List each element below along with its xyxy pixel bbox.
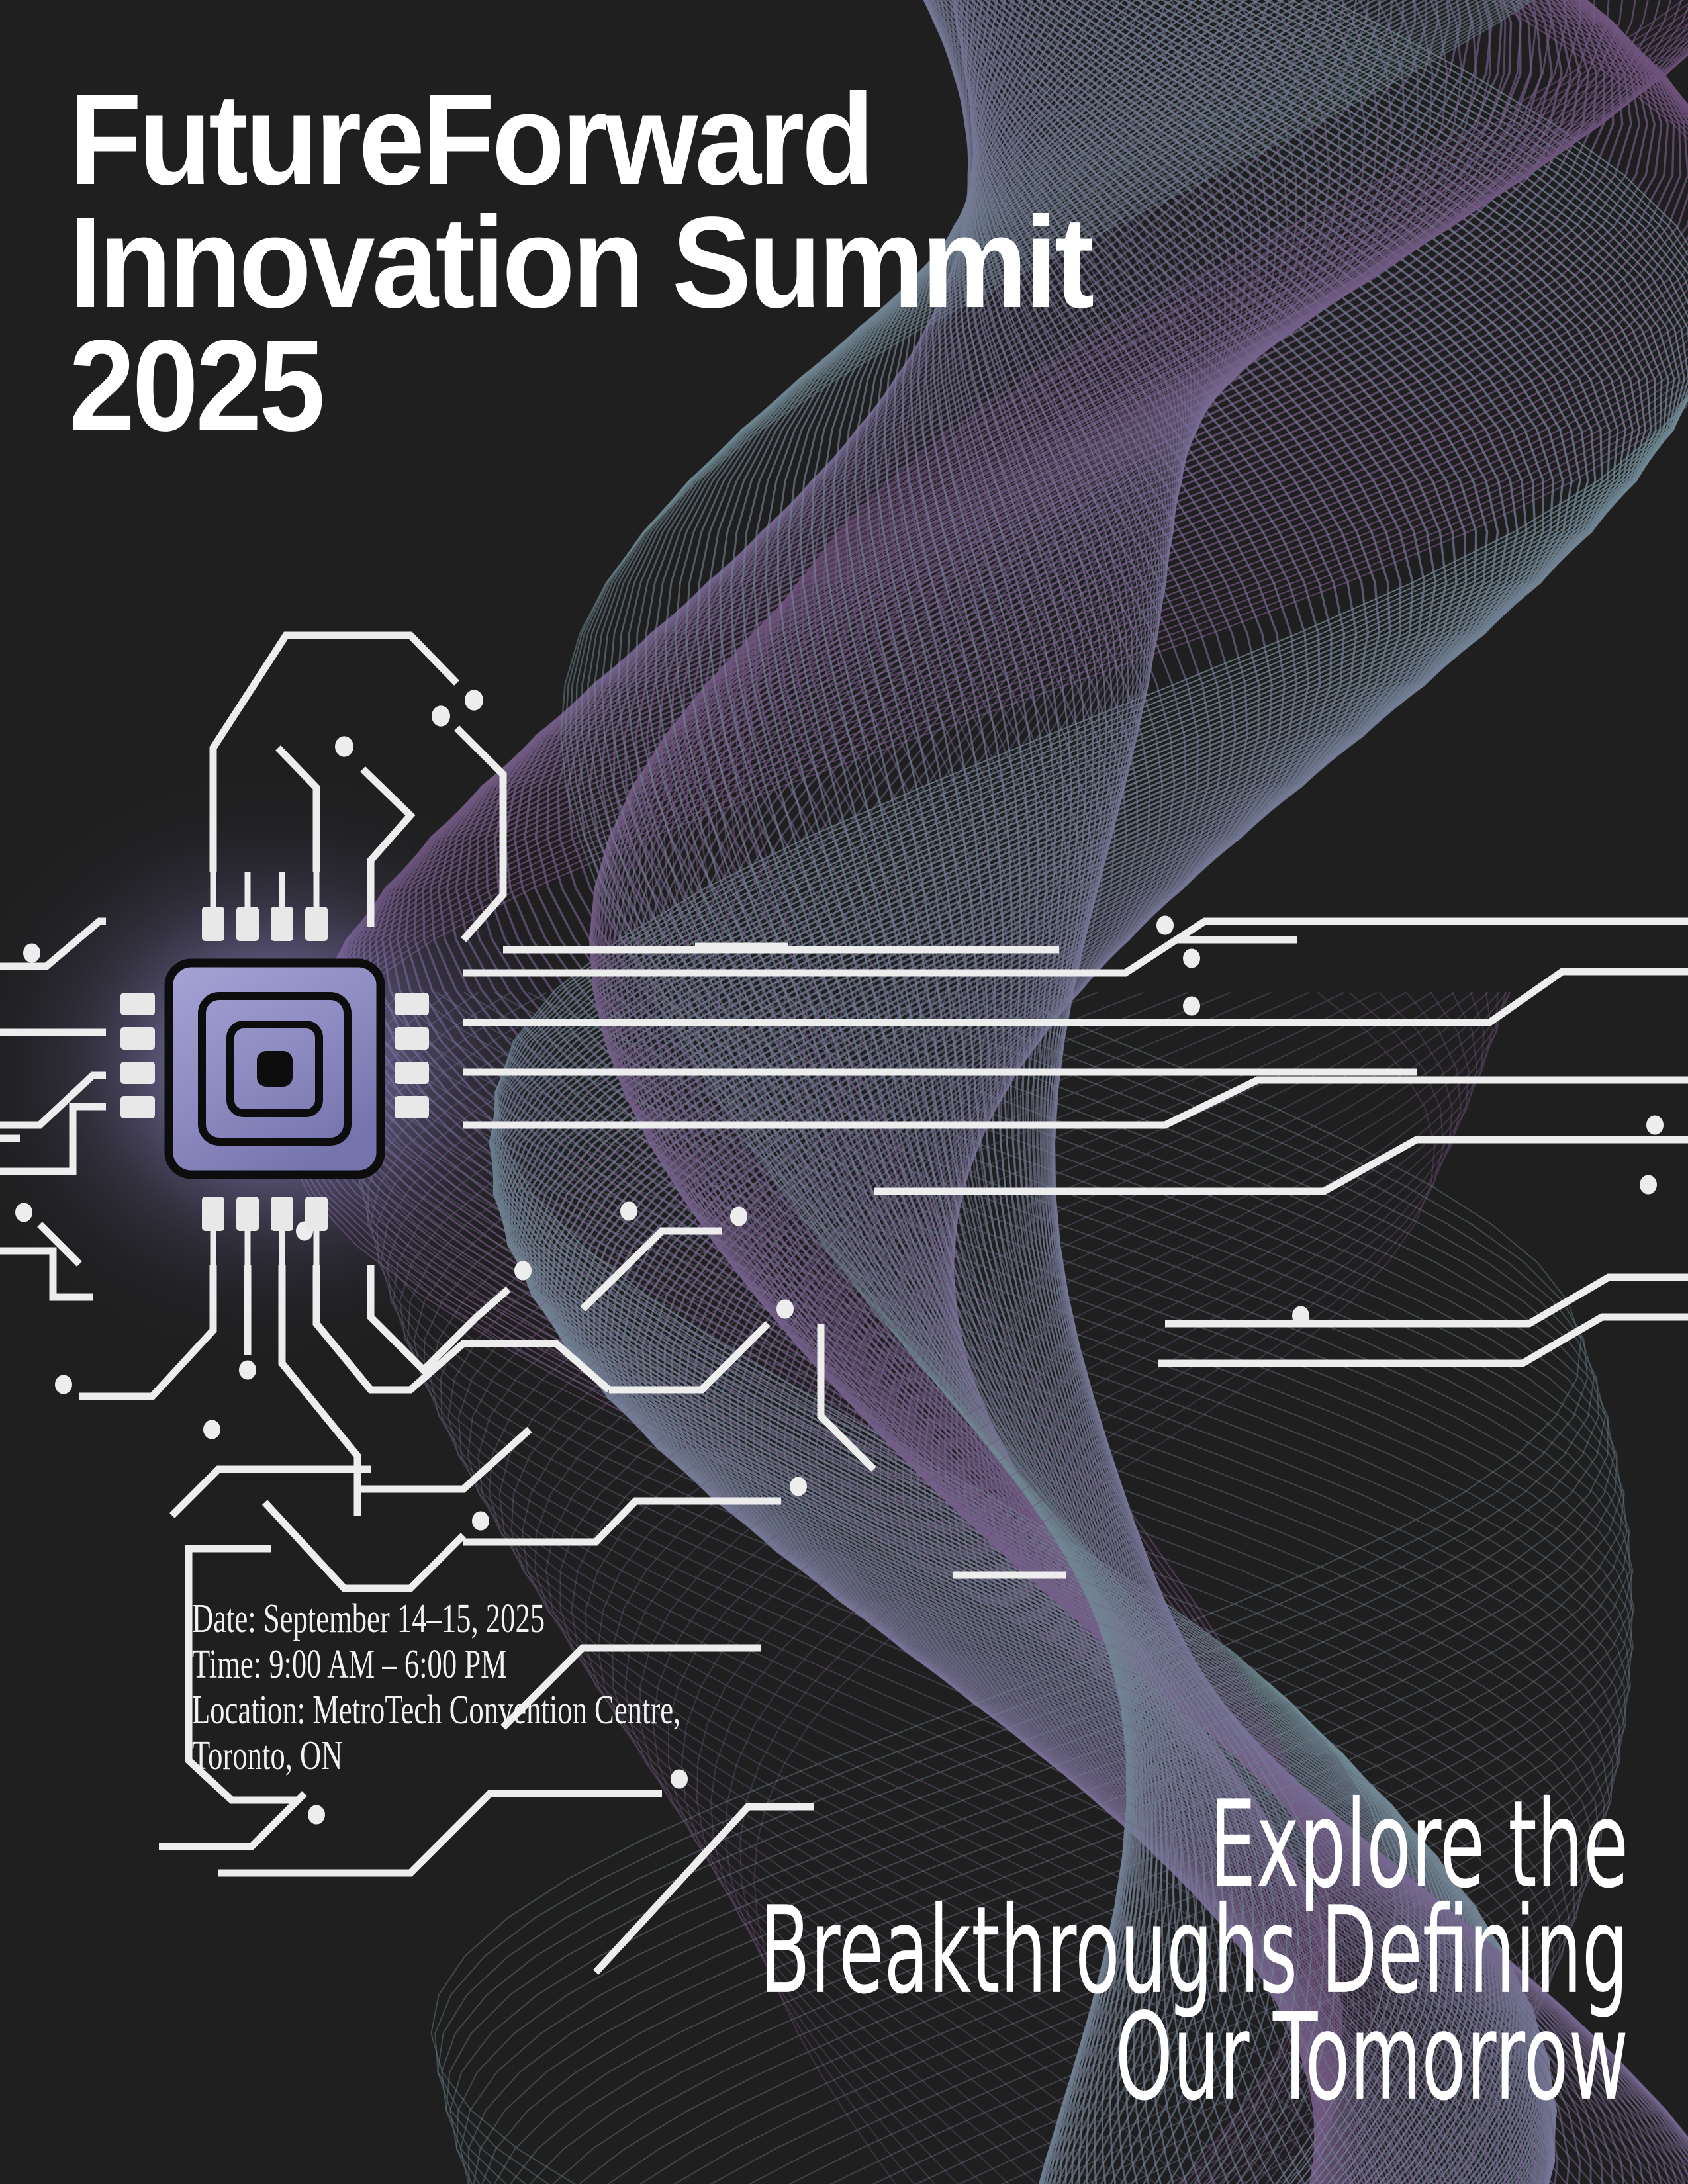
chip-pin <box>120 1062 155 1084</box>
trace-node <box>1292 1306 1309 1325</box>
trace-node <box>308 1805 325 1824</box>
trace-node <box>776 1299 794 1318</box>
chip-pin <box>202 907 224 941</box>
trace-node <box>1183 996 1200 1015</box>
trace-node <box>730 1206 747 1226</box>
title-line-2: Innovation Summit <box>69 201 1530 324</box>
chip-pin <box>120 1027 155 1050</box>
trace-node <box>1646 1115 1664 1134</box>
chip-pin <box>120 1096 155 1118</box>
detail-city: Toronto, ON <box>192 1735 716 1776</box>
chip-pin <box>271 1197 293 1231</box>
title-line-1: FutureForward <box>69 78 1530 201</box>
chip-pin <box>202 1197 224 1231</box>
trace-node <box>203 1420 220 1439</box>
trace-node <box>472 1511 489 1530</box>
chip-pin <box>305 907 328 941</box>
chip-pin <box>395 993 429 1015</box>
trace-node <box>465 690 483 710</box>
chip-pin <box>395 1027 429 1050</box>
poster-tagline: Explore the Breakthroughs Defining Our T… <box>515 1807 1628 2126</box>
chip-pin <box>271 907 293 941</box>
trace-node <box>1156 915 1174 934</box>
cpu-chip-icon <box>169 963 381 1175</box>
trace-node <box>1640 1175 1657 1194</box>
chip-pin <box>395 1096 429 1118</box>
chip-pin <box>305 1197 328 1231</box>
chip-pin <box>395 1062 429 1084</box>
title-line-3: 2025 <box>69 324 1530 447</box>
trace-node <box>1183 948 1200 968</box>
detail-location: Location: MetroTech Convention Centre, <box>192 1690 716 1731</box>
trace-node <box>432 705 450 726</box>
chip-pin <box>120 993 155 1015</box>
trace-node <box>620 1201 637 1220</box>
poster-canvas: FutureForward Innovation Summit 2025 Dat… <box>0 0 1688 2184</box>
chip-pin <box>236 907 259 941</box>
trace-node <box>790 1477 807 1496</box>
trace-node <box>15 1203 32 1222</box>
chip-pin <box>236 1197 259 1231</box>
trace-node <box>239 1360 256 1379</box>
event-details: Date: September 14–15, 2025 Time: 9:00 A… <box>192 1598 920 1781</box>
trace-node <box>335 736 353 756</box>
trace-node <box>55 1375 72 1394</box>
poster-title: FutureForward Innovation Summit 2025 <box>69 78 1658 448</box>
tagline-line-3: Our Tomorrow <box>760 1990 1628 2126</box>
trace-node <box>23 943 40 962</box>
detail-date: Date: September 14–15, 2025 <box>192 1598 716 1639</box>
detail-time: Time: 9:00 AM – 6:00 PM <box>192 1644 716 1685</box>
trace-node <box>514 1261 532 1280</box>
